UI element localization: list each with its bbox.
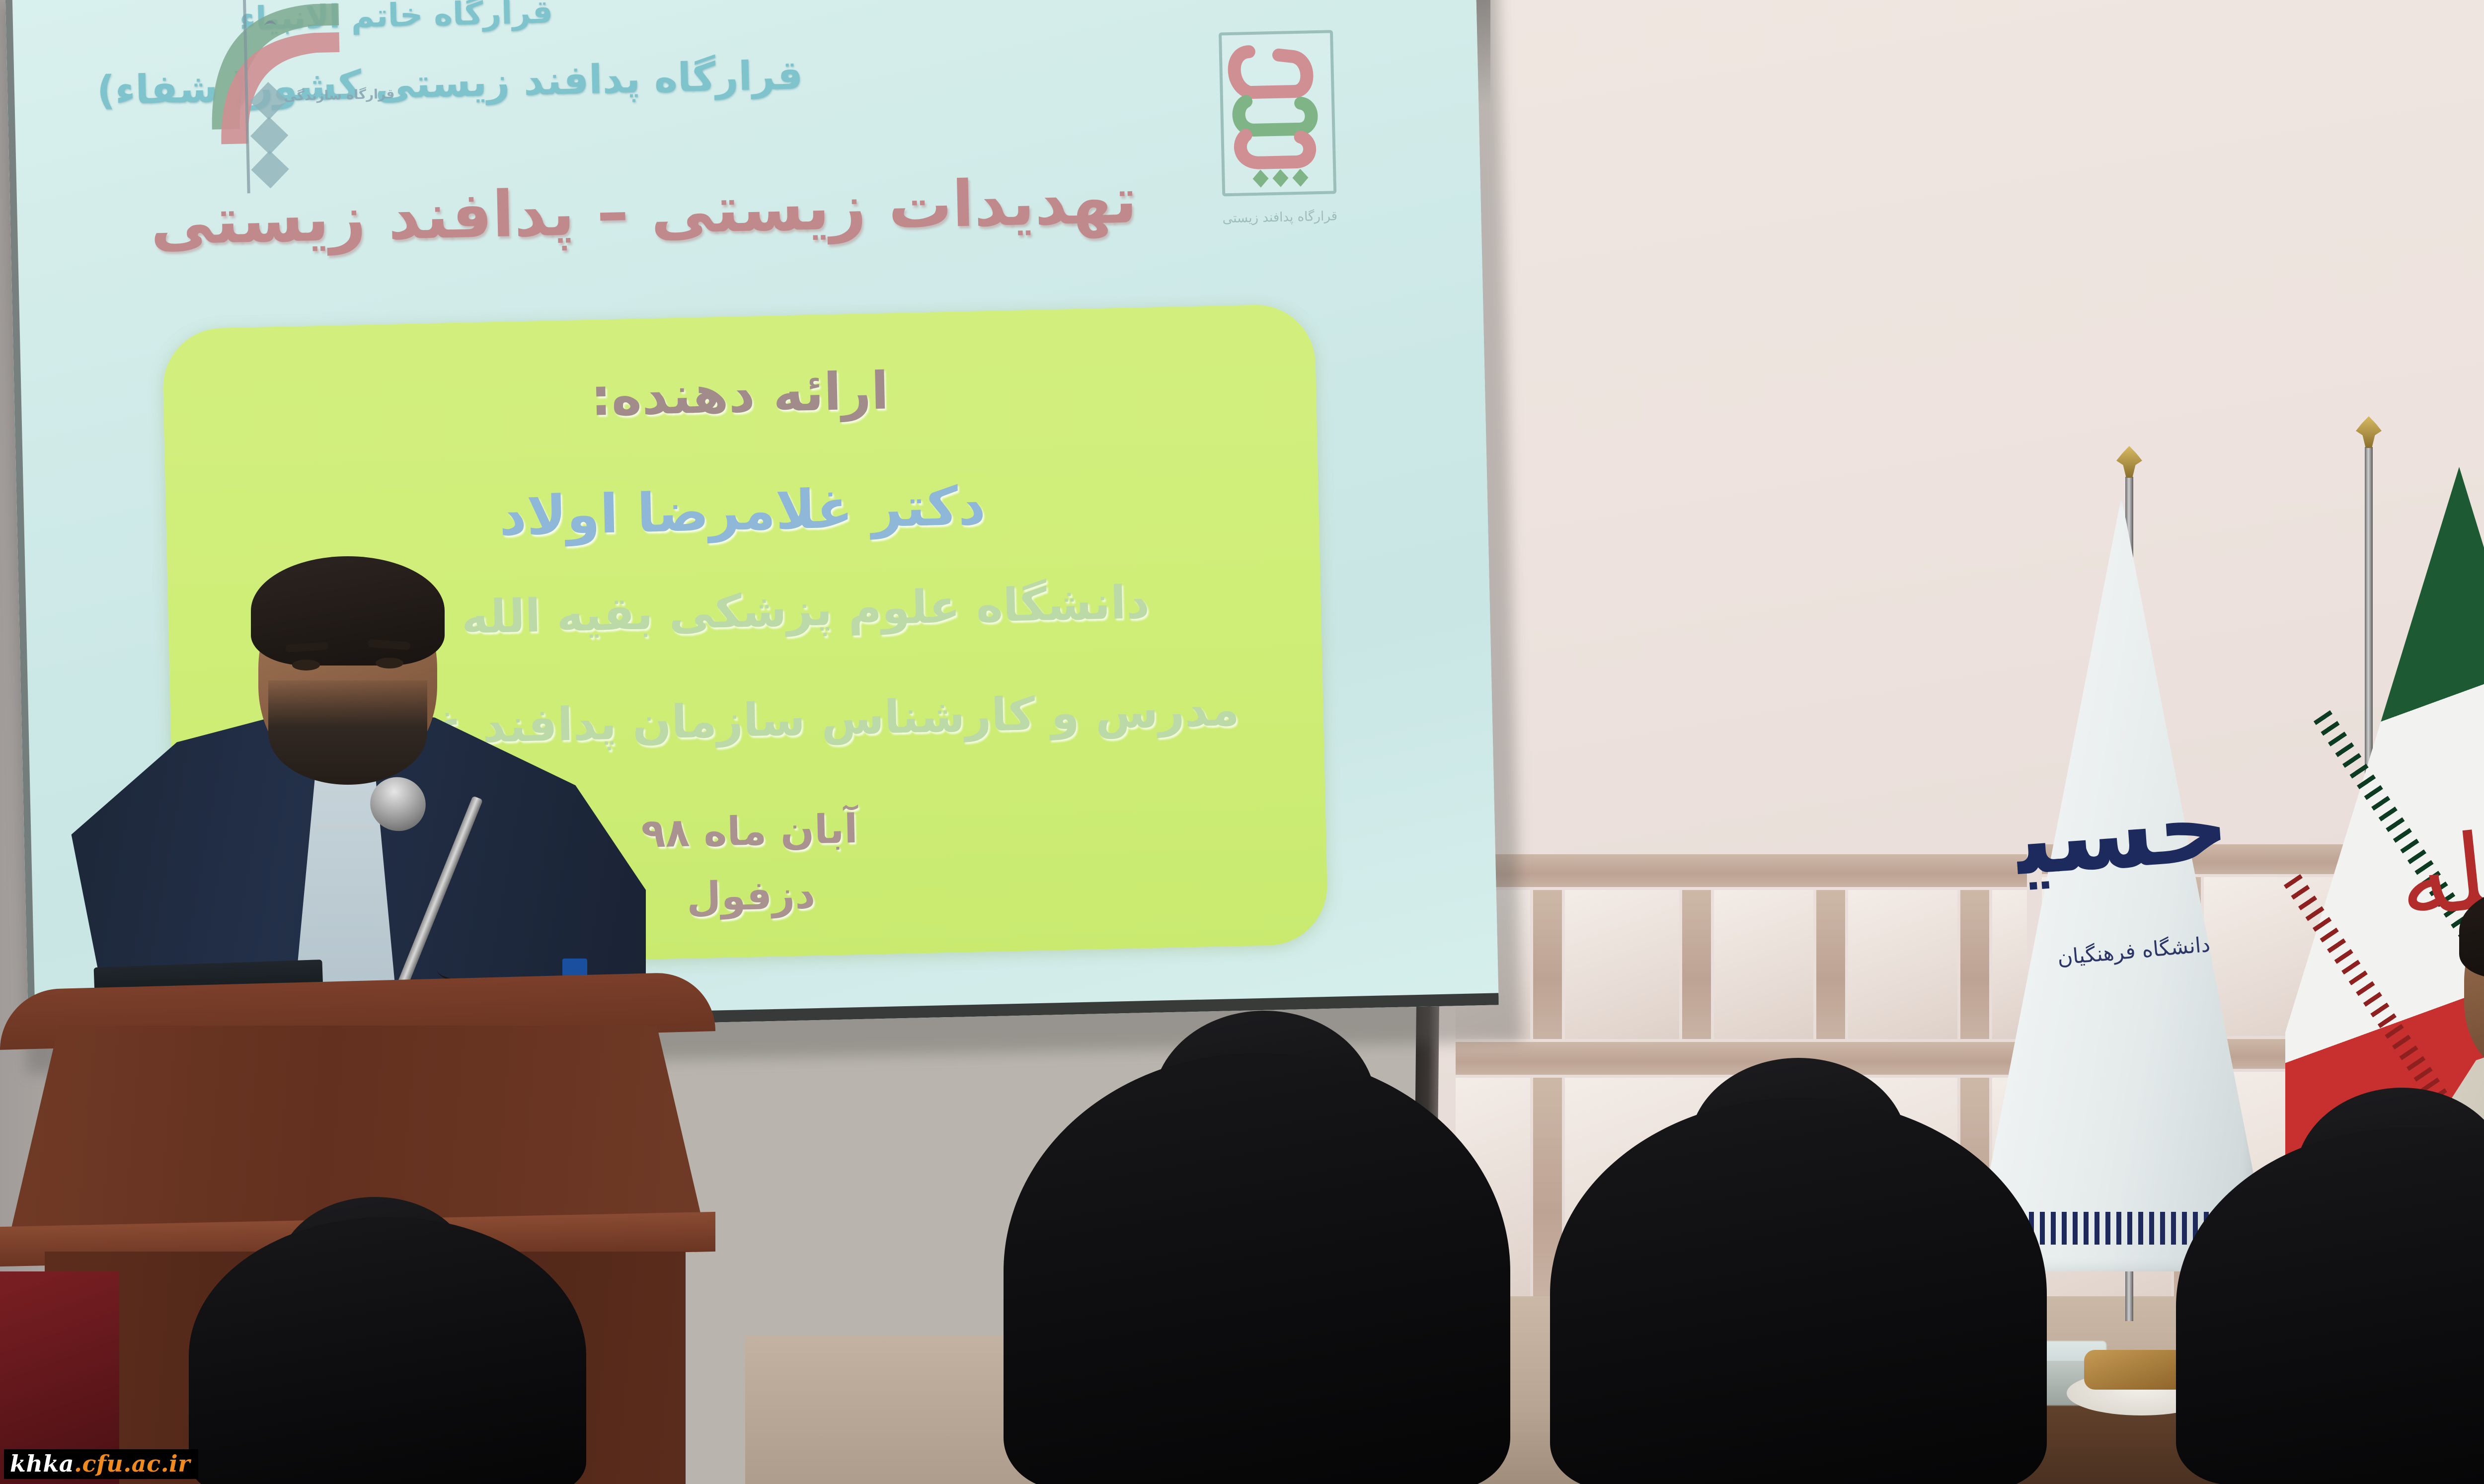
speaker-eye-left (292, 660, 320, 670)
site-watermark: khka.cfu.ac.ir (4, 1449, 198, 1479)
plate-of-dates (2084, 1350, 2188, 1390)
speaker-figure (60, 556, 681, 1003)
speaker-eye-right (376, 658, 403, 668)
speaker-beard (268, 680, 427, 785)
conference-photo: قرارگاه خاتم الانبیاء قرارگاه پدافند زیس… (0, 0, 2484, 1484)
watermark-domain: .cfu.ac.ir (74, 1450, 190, 1477)
attendee-hair (2459, 884, 2484, 978)
institution-flag-calligraphy: حسین (2012, 767, 2236, 946)
logo-left-caption: قرارگاه سازندگی (284, 87, 394, 104)
presented-by-label: ارائه دهنده: (163, 351, 1317, 437)
audience-member (1004, 1053, 1510, 1484)
presenter-name: دکتر غلامرضا اولاد (165, 467, 1319, 555)
audience-member (189, 1217, 586, 1484)
watermark-name: khka (10, 1450, 74, 1477)
audience-member (1550, 1098, 2047, 1484)
speaker-hair (251, 556, 445, 666)
khatam-al-anbiya-logo-icon: قرارگاه سازندگی (189, 0, 358, 200)
logo-right-caption: قرارگاه پدافند زیستی (1213, 209, 1347, 226)
shafa-biodefense-logo-icon: قرارگاه پدافند زیستی (1193, 9, 1363, 271)
